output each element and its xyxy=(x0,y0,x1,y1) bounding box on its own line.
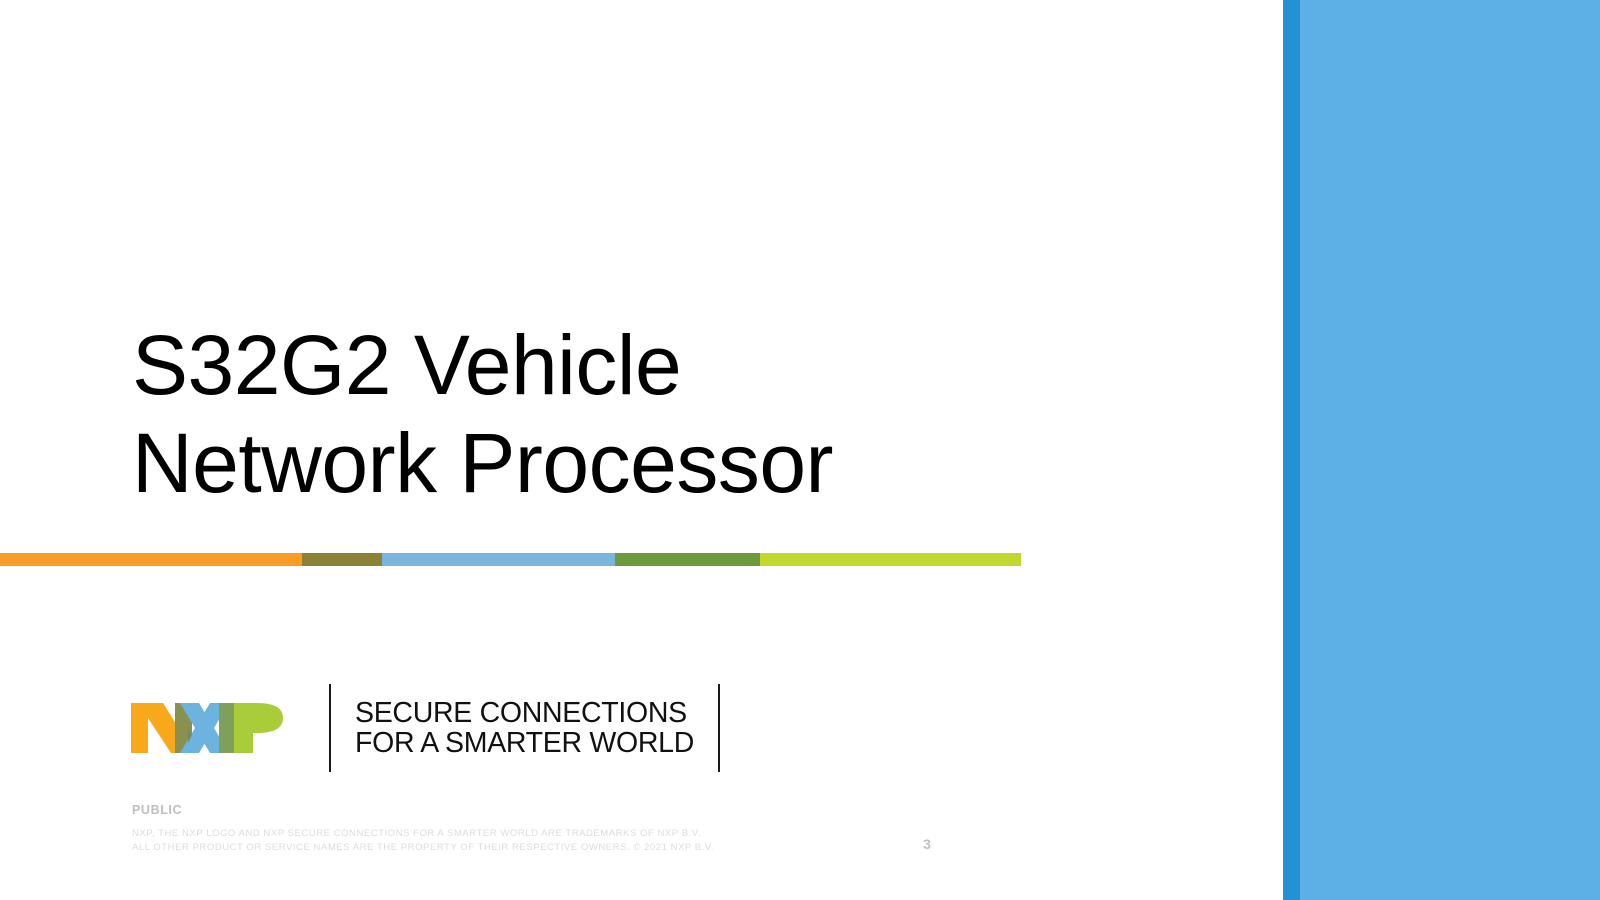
classification-label: PUBLIC xyxy=(132,803,992,817)
right-accent-panel xyxy=(1300,0,1600,900)
accent-segment-yellow-green xyxy=(760,553,1021,566)
accent-segment-green xyxy=(615,553,760,566)
accent-segment-orange xyxy=(0,553,302,566)
brand-tagline-line-2: FOR A SMARTER WORLD xyxy=(355,728,694,758)
page-title: S32G2 Vehicle Network Processor xyxy=(132,316,1112,512)
logo-divider-left xyxy=(329,684,331,772)
page-number: 3 xyxy=(912,836,942,852)
page-title-line-1: S32G2 Vehicle xyxy=(132,316,1112,414)
accent-color-bar xyxy=(0,553,1021,566)
brand-tagline: SECURE CONNECTIONS FOR A SMARTER WORLD xyxy=(355,698,694,758)
slide-canvas: S32G2 Vehicle Network Processor SECURE C… xyxy=(0,0,1600,900)
legal-notice-line-1: NXP, THE NXP LOGO AND NXP SECURE CONNECT… xyxy=(132,827,992,841)
legal-notice-line-2: ALL OTHER PRODUCT OR SERVICE NAMES ARE T… xyxy=(132,841,992,855)
page-title-line-2: Network Processor xyxy=(132,414,1112,512)
footer: PUBLIC NXP, THE NXP LOGO AND NXP SECURE … xyxy=(132,803,992,854)
right-accent-stripe xyxy=(1283,0,1300,900)
accent-segment-olive xyxy=(302,553,382,566)
nxp-logo-mark xyxy=(131,699,283,757)
brand-logo-lockup: SECURE CONNECTIONS FOR A SMARTER WORLD xyxy=(131,688,744,768)
logo-divider-right xyxy=(718,684,720,772)
brand-tagline-line-1: SECURE CONNECTIONS xyxy=(355,698,694,728)
accent-segment-light-blue xyxy=(382,553,615,566)
